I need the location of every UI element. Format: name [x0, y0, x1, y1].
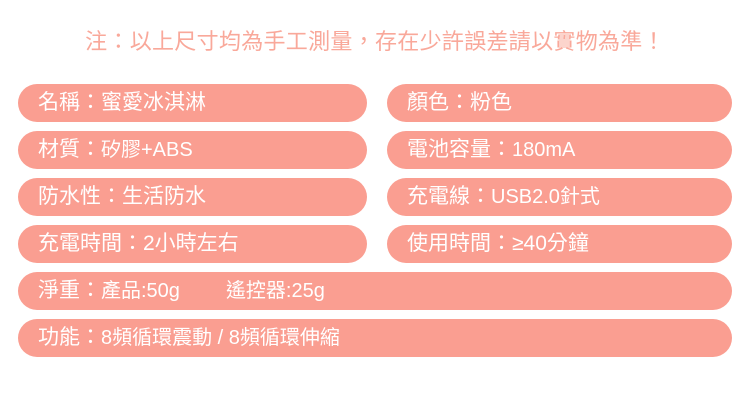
spec-label: 使用時間：	[407, 225, 512, 263]
spec-value: ≥40分鐘	[512, 225, 589, 263]
spec-row: 材質：矽膠+ABS 電池容量：180mA	[18, 131, 732, 169]
spec-value-product-weight: 產品:50g	[101, 272, 180, 310]
product-spec-sheet: 注：以上尺寸均為手工測量，存在少許誤差請以實物為準！ 名稱：蜜愛冰淇淋 顏色： …	[0, 0, 750, 400]
spec-row: 功能：8頻循環震動 / 8頻循環伸縮	[18, 319, 732, 357]
spec-label: 電池容量：	[407, 131, 512, 169]
spec-label: 名稱：	[38, 84, 101, 122]
spec-pill-material: 材質：矽膠+ABS	[18, 131, 367, 169]
spec-pill-waterproof: 防水性：生活防水	[18, 178, 367, 216]
spec-value-remote-weight: 遙控器:25g	[226, 272, 325, 310]
spec-pill-color: 顏色： 粉色	[387, 84, 732, 122]
spec-label: 材質：	[38, 131, 101, 169]
spec-pill-charging-cable: 充電線：USB2.0針式	[387, 178, 732, 216]
spec-value: 180mA	[512, 131, 575, 169]
spec-label: 充電線：	[407, 178, 491, 216]
spec-value: 生活防水	[122, 178, 206, 216]
spec-pill-battery-capacity: 電池容量：180mA	[387, 131, 732, 169]
spec-pill-name: 名稱：蜜愛冰淇淋	[18, 84, 367, 122]
spec-value: 蜜愛冰淇淋	[101, 84, 206, 122]
spec-label: 防水性：	[38, 178, 122, 216]
spec-value: 粉色	[470, 84, 512, 122]
spec-value: 矽膠+ABS	[101, 131, 193, 169]
spec-row: 名稱：蜜愛冰淇淋 顏色： 粉色	[18, 84, 732, 122]
spec-row: 淨重： 產品:50g遙控器:25g	[18, 272, 732, 310]
spec-value: 8頻循環震動 / 8頻循環伸縮	[101, 319, 340, 357]
spec-row-list: 名稱：蜜愛冰淇淋 顏色： 粉色 材質：矽膠+ABS 電池容量：180mA 防水性…	[18, 84, 732, 366]
measurement-note: 注：以上尺寸均為手工測量，存在少許誤差請以實物為準！	[0, 27, 750, 57]
spec-label: 顏色：	[407, 84, 470, 122]
spec-row: 充電時間：2小時左右 使用時間：≥40分鐘	[18, 225, 732, 263]
spec-pill-functions: 功能：8頻循環震動 / 8頻循環伸縮	[18, 319, 732, 357]
spec-value: 2小時左右	[143, 225, 239, 263]
spec-value: USB2.0針式	[491, 178, 600, 216]
spec-pill-charging-time: 充電時間：2小時左右	[18, 225, 367, 263]
spec-pill-net-weight: 淨重： 產品:50g遙控器:25g	[18, 272, 732, 310]
spec-row: 防水性：生活防水 充電線：USB2.0針式	[18, 178, 732, 216]
spec-label: 充電時間：	[38, 225, 143, 263]
spec-label: 淨重：	[38, 272, 101, 310]
spec-label: 功能：	[38, 319, 101, 357]
spec-pill-usage-time: 使用時間：≥40分鐘	[387, 225, 732, 263]
